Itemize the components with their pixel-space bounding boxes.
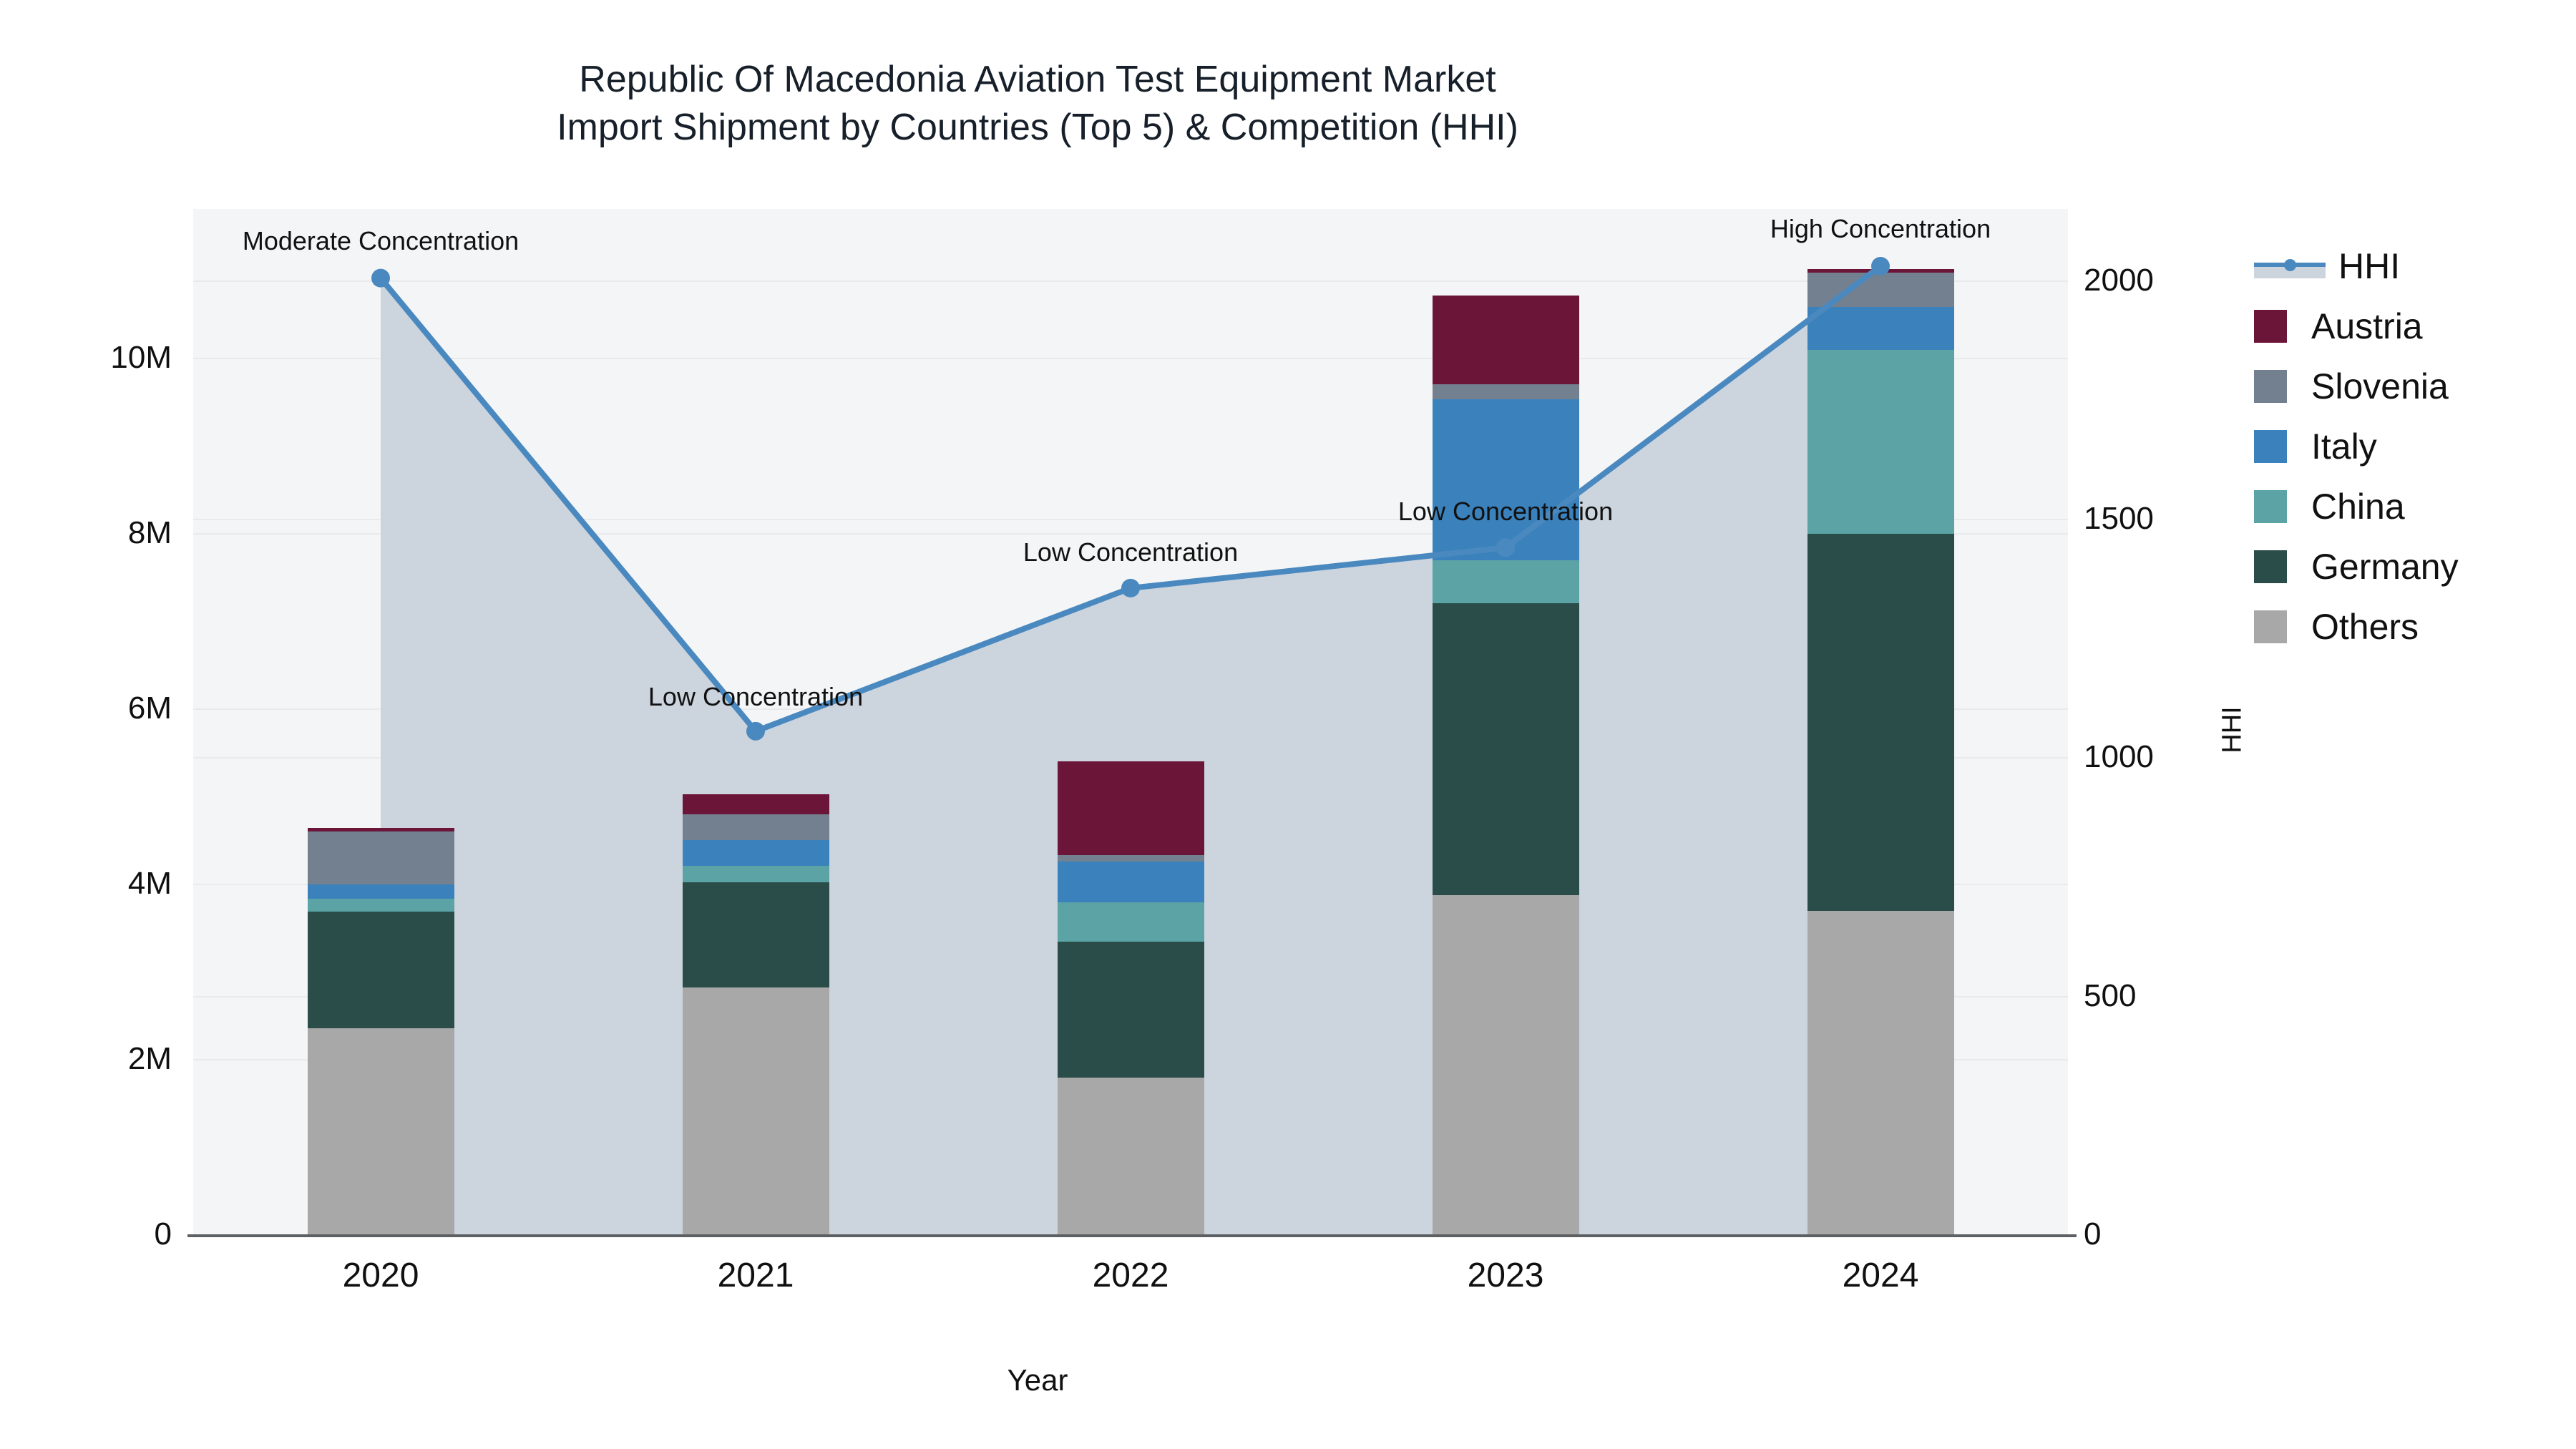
legend-label: Germany	[2311, 546, 2459, 587]
bar-segment-china[interactable]	[1807, 350, 1954, 534]
bar-segment-italy[interactable]	[308, 884, 454, 899]
bar-segment-germany[interactable]	[683, 882, 829, 987]
bar-segment-others[interactable]	[308, 1028, 454, 1234]
legend-label: Others	[2311, 606, 2419, 648]
y-tick-left: 6M	[14, 691, 172, 726]
bar-2022[interactable]	[1058, 761, 1204, 1234]
legend-swatch-icon	[2254, 430, 2287, 463]
bar-segment-others[interactable]	[1058, 1078, 1204, 1234]
bar-segment-germany[interactable]	[308, 912, 454, 1028]
bar-segment-others[interactable]	[683, 987, 829, 1234]
legend-item-others[interactable]: Others	[2254, 597, 2459, 657]
y-tick-left: 2M	[14, 1041, 172, 1077]
legend-label: Austria	[2311, 306, 2423, 347]
chart-title-line-2: Import Shipment by Countries (Top 5) & C…	[0, 104, 2075, 152]
legend-label: Slovenia	[2311, 366, 2449, 407]
bar-2024[interactable]	[1807, 269, 1954, 1234]
annotation-2021: Low Concentration	[648, 682, 863, 712]
x-tick-2021: 2021	[718, 1256, 794, 1295]
gridline	[193, 533, 2068, 535]
y-tick-right: 1500	[2084, 501, 2154, 537]
chart-page: Republic Of Macedonia Aviation Test Equi…	[0, 0, 2576, 1449]
y-tick-left: 0	[14, 1216, 172, 1252]
bar-segment-others[interactable]	[1807, 911, 1954, 1234]
bar-segment-china[interactable]	[1058, 902, 1204, 942]
bar-segment-austria[interactable]	[683, 794, 829, 814]
bar-segment-slovenia[interactable]	[308, 831, 454, 885]
annotation-2023: Low Concentration	[1398, 497, 1613, 527]
bar-segment-china[interactable]	[683, 866, 829, 882]
chart-title: Republic Of Macedonia Aviation Test Equi…	[0, 56, 2075, 151]
hhi-marker-2021	[746, 722, 765, 741]
x-tick-2022: 2022	[1093, 1256, 1169, 1295]
bar-segment-china[interactable]	[1433, 560, 1579, 603]
y-tick-right: 1000	[2084, 739, 2154, 775]
legend-swatch-icon	[2254, 610, 2287, 643]
x-axis-label: Year	[0, 1363, 2075, 1397]
chart-legend: HHIAustriaSloveniaItalyChinaGermanyOther…	[2254, 236, 2459, 657]
chart-title-line-1: Republic Of Macedonia Aviation Test Equi…	[0, 56, 2075, 104]
bar-segment-italy[interactable]	[1058, 862, 1204, 902]
legend-swatch-icon	[2254, 310, 2287, 343]
legend-label: HHI	[2338, 245, 2400, 287]
legend-item-italy[interactable]: Italy	[2254, 416, 2459, 477]
hhi-line	[381, 266, 1880, 731]
bar-2020[interactable]	[308, 653, 454, 1234]
legend-label: China	[2311, 486, 2405, 527]
bar-segment-slovenia[interactable]	[1433, 384, 1579, 399]
plot-inner	[193, 209, 2068, 1234]
annotation-2022: Low Concentration	[1023, 537, 1238, 567]
x-tick-2020: 2020	[343, 1256, 419, 1295]
bar-2023[interactable]	[1433, 296, 1579, 1234]
legend-swatch-icon	[2254, 490, 2287, 523]
legend-item-hhi[interactable]: HHI	[2254, 236, 2459, 296]
legend-swatch-icon	[2254, 550, 2287, 583]
y-tick-left: 4M	[14, 866, 172, 902]
bar-segment-italy[interactable]	[1433, 399, 1579, 560]
y-axis-right-label: HHI	[2218, 706, 2248, 753]
legend-line-icon	[2254, 250, 2326, 283]
bar-segment-austria[interactable]	[1058, 761, 1204, 855]
bar-segment-austria[interactable]	[1433, 296, 1579, 384]
legend-swatch-icon	[2254, 370, 2287, 403]
hhi-marker-2020	[371, 269, 390, 288]
bar-segment-slovenia[interactable]	[683, 814, 829, 841]
legend-item-china[interactable]: China	[2254, 477, 2459, 537]
gridline	[193, 708, 2068, 710]
y-tick-left: 10M	[14, 340, 172, 376]
bar-segment-austria[interactable]	[308, 828, 454, 831]
y-tick-right: 0	[2084, 1216, 2101, 1252]
annotation-2024: High Concentration	[1770, 214, 1991, 244]
bar-segment-slovenia[interactable]	[1807, 273, 1954, 307]
bar-segment-italy[interactable]	[683, 840, 829, 866]
annotation-2020: Moderate Concentration	[243, 226, 519, 256]
x-axis-line	[187, 1234, 2077, 1237]
gridline-secondary	[193, 757, 2068, 758]
y-tick-right: 500	[2084, 978, 2136, 1014]
x-tick-2023: 2023	[1468, 1256, 1544, 1295]
gridline	[193, 358, 2068, 359]
bar-segment-china[interactable]	[308, 899, 454, 912]
bar-segment-others[interactable]	[1433, 895, 1579, 1234]
bar-segment-germany[interactable]	[1433, 603, 1579, 895]
bar-segment-germany[interactable]	[1807, 534, 1954, 911]
bar-2021[interactable]	[683, 794, 829, 1234]
hhi-marker-2022	[1121, 579, 1140, 597]
gridline-secondary	[193, 280, 2068, 282]
legend-item-slovenia[interactable]: Slovenia	[2254, 356, 2459, 416]
x-tick-2024: 2024	[1843, 1256, 1919, 1295]
plot-area	[193, 209, 2068, 1234]
y-tick-right: 2000	[2084, 263, 2154, 298]
bar-segment-italy[interactable]	[1807, 307, 1954, 350]
legend-item-austria[interactable]: Austria	[2254, 296, 2459, 356]
y-tick-left: 8M	[14, 515, 172, 551]
legend-item-germany[interactable]: Germany	[2254, 537, 2459, 597]
gridline-secondary	[193, 519, 2068, 520]
legend-label: Italy	[2311, 426, 2377, 467]
bar-segment-slovenia[interactable]	[1058, 855, 1204, 862]
bar-segment-germany[interactable]	[1058, 942, 1204, 1078]
bar-segment-austria[interactable]	[1807, 269, 1954, 273]
